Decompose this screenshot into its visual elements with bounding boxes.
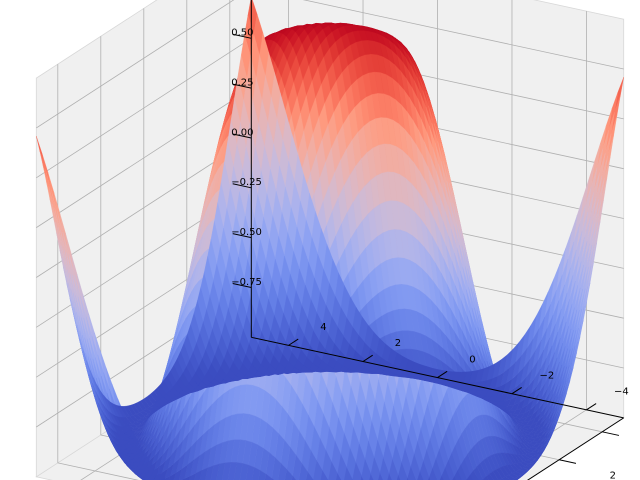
y-tick-label: −4 (614, 386, 629, 397)
z-tick-label: 0.00 (231, 127, 253, 138)
y-tick-label: 2 (395, 338, 401, 349)
x-tick (602, 432, 619, 436)
x-tick (559, 460, 576, 464)
z-tick-label: 0.25 (231, 78, 253, 89)
surface-plot-axes: −4−2024−4−20240.750.500.250.00−0.25−0.50… (0, 0, 640, 480)
x-tick-label: 2 (610, 470, 616, 480)
z-tick-label: 0.50 (231, 28, 253, 39)
y-tick-label: 4 (320, 322, 326, 333)
z-tick-label: −0.25 (231, 177, 262, 188)
y-tick-label: −2 (539, 370, 554, 381)
z-tick-label: −0.50 (231, 227, 262, 238)
matplotlib-figure: −4−2024−4−20240.750.500.250.00−0.25−0.50… (0, 0, 640, 480)
z-tick-label: −0.75 (231, 277, 262, 288)
y-tick-label: 0 (469, 354, 475, 365)
